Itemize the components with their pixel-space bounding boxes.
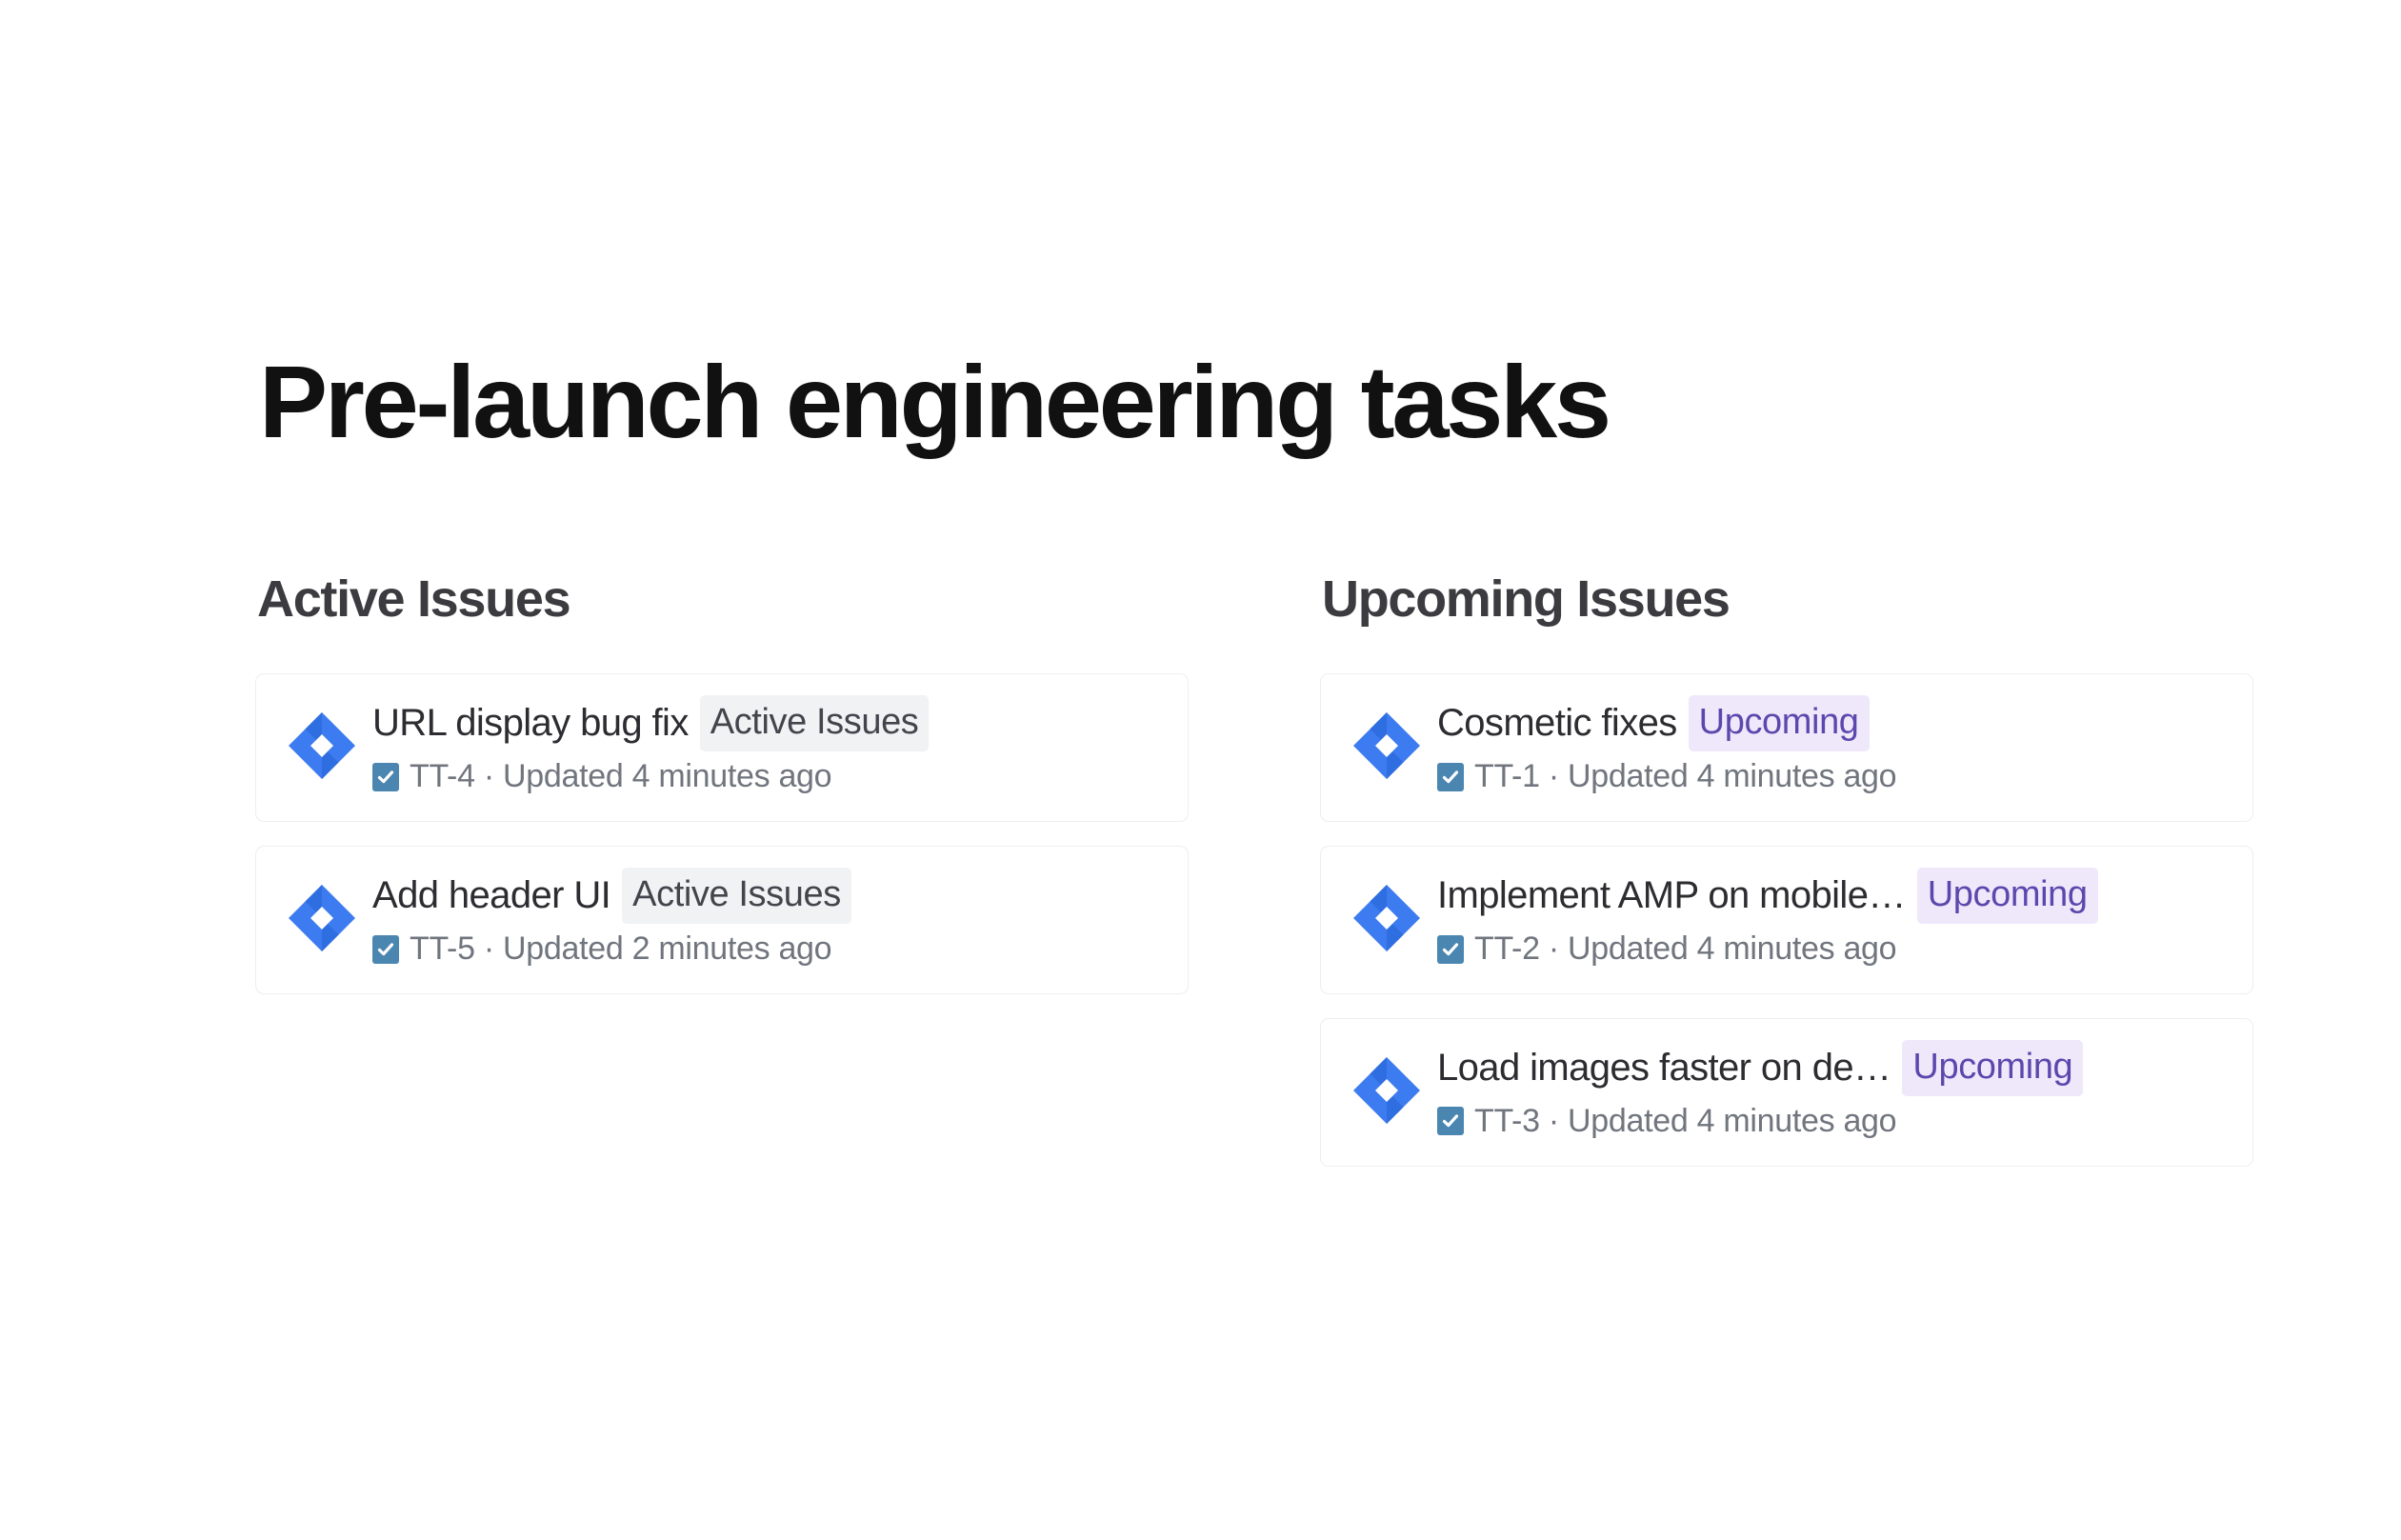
status-badge: Upcoming xyxy=(1689,695,1870,751)
jira-issue-icon xyxy=(1350,709,1424,783)
issue-card-body: URL display bug fix Active Issues TT-4 ·… xyxy=(372,695,1163,796)
checked-checkbox-icon xyxy=(1437,1107,1464,1135)
status-badge: Upcoming xyxy=(1917,868,2098,924)
column-heading-upcoming-issues: Upcoming Issues xyxy=(1322,571,2253,628)
checked-checkbox-icon xyxy=(372,763,399,791)
issue-meta-text: TT-2 · Updated 4 minutes ago xyxy=(1474,930,1896,969)
page-root: Pre-launch engineering tasks Active Issu… xyxy=(0,0,2401,1540)
issue-title[interactable]: Cosmetic fixes xyxy=(1437,701,1677,746)
issue-card-title-row: Implement AMP on mobile… Upcoming xyxy=(1437,868,2228,924)
column-upcoming-issues: Upcoming Issues Cosmetic fi xyxy=(1320,571,2253,1167)
issue-card-title-row: Add header UI Active Issues xyxy=(372,868,1163,924)
checked-checkbox-icon xyxy=(372,935,399,964)
issue-card[interactable]: Implement AMP on mobile… Upcoming TT-2 ·… xyxy=(1320,846,2253,994)
card-list-upcoming-issues: Cosmetic fixes Upcoming TT-1 · Updated 4… xyxy=(1320,673,2253,1166)
issue-card-title-row: Cosmetic fixes Upcoming xyxy=(1437,695,2228,751)
issue-meta: TT-5 · Updated 2 minutes ago xyxy=(372,930,1163,969)
checked-checkbox-icon xyxy=(1437,935,1464,964)
issue-card-title-row: URL display bug fix Active Issues xyxy=(372,695,1163,751)
status-badge: Upcoming xyxy=(1902,1040,2083,1096)
issue-card-title-row: Load images faster on de… Upcoming xyxy=(1437,1040,2228,1096)
issue-title[interactable]: Add header UI xyxy=(372,873,610,918)
issue-meta: TT-2 · Updated 4 minutes ago xyxy=(1437,930,2228,969)
column-active-issues: Active Issues URL display b xyxy=(255,571,1189,1167)
page-title: Pre-launch engineering tasks xyxy=(259,347,1609,458)
issue-meta-text: TT-4 · Updated 4 minutes ago xyxy=(410,757,831,796)
issue-card[interactable]: URL display bug fix Active Issues TT-4 ·… xyxy=(255,673,1189,822)
issue-meta: TT-3 · Updated 4 minutes ago xyxy=(1437,1102,2228,1141)
jira-issue-icon xyxy=(285,709,359,783)
issue-meta: TT-1 · Updated 4 minutes ago xyxy=(1437,757,2228,796)
issue-meta-text: TT-3 · Updated 4 minutes ago xyxy=(1474,1102,1896,1141)
issue-title[interactable]: Load images faster on de… xyxy=(1437,1046,1891,1090)
card-list-active-issues: URL display bug fix Active Issues TT-4 ·… xyxy=(255,673,1189,994)
issue-card[interactable]: Cosmetic fixes Upcoming TT-1 · Updated 4… xyxy=(1320,673,2253,822)
status-badge: Active Issues xyxy=(622,868,851,924)
issue-card[interactable]: Load images faster on de… Upcoming TT-3 … xyxy=(1320,1018,2253,1167)
column-heading-active-issues: Active Issues xyxy=(257,571,1189,628)
issue-meta: TT-4 · Updated 4 minutes ago xyxy=(372,757,1163,796)
issue-meta-text: TT-1 · Updated 4 minutes ago xyxy=(1474,757,1896,796)
checked-checkbox-icon xyxy=(1437,763,1464,791)
jira-issue-icon xyxy=(1350,881,1424,955)
issue-meta-text: TT-5 · Updated 2 minutes ago xyxy=(410,930,831,969)
jira-issue-icon xyxy=(1350,1053,1424,1128)
issue-card-body: Load images faster on de… Upcoming TT-3 … xyxy=(1437,1040,2228,1141)
jira-issue-icon xyxy=(285,881,359,955)
issue-card[interactable]: Add header UI Active Issues TT-5 · Updat… xyxy=(255,846,1189,994)
issue-title[interactable]: URL display bug fix xyxy=(372,701,689,746)
issue-card-body: Cosmetic fixes Upcoming TT-1 · Updated 4… xyxy=(1437,695,2228,796)
issue-card-body: Implement AMP on mobile… Upcoming TT-2 ·… xyxy=(1437,868,2228,969)
status-badge: Active Issues xyxy=(700,695,930,751)
issue-card-body: Add header UI Active Issues TT-5 · Updat… xyxy=(372,868,1163,969)
issue-title[interactable]: Implement AMP on mobile… xyxy=(1437,873,1906,918)
issue-columns: Active Issues URL display b xyxy=(255,571,2255,1167)
